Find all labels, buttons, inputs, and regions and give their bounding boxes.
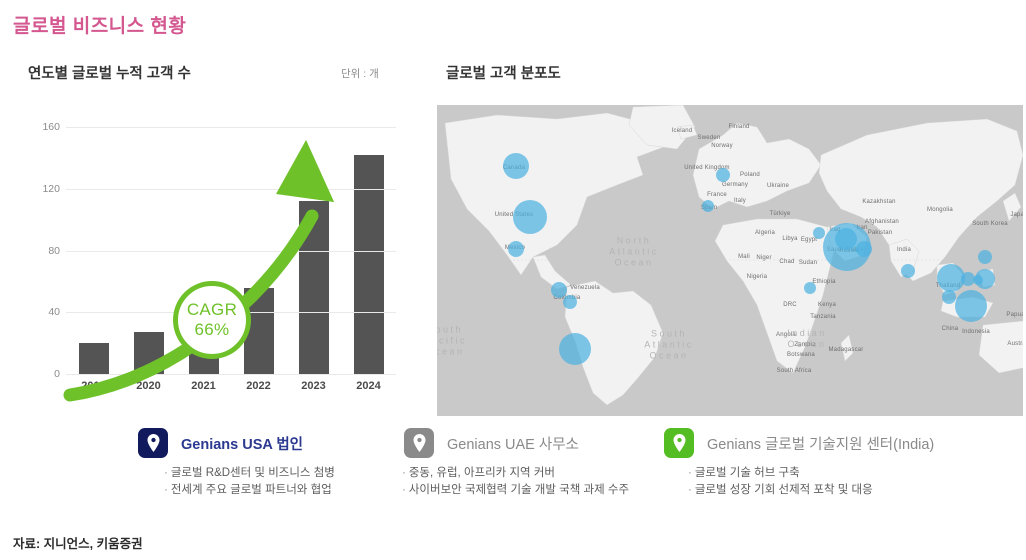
office-card-bullet: ·글로벌 성장 기회 선제적 포착 및 대응	[688, 482, 934, 499]
map-country-label: Australia	[1007, 341, 1023, 347]
map-country-label: Indonesia	[962, 329, 990, 335]
map-country-label: Kazakhstan	[862, 199, 895, 205]
map-bubble-uae[interactable]	[856, 241, 872, 257]
slide-root: 글로벌 비즈니스 현황 연도별 글로벌 누적 고객 수 단위 : 개 04080…	[0, 0, 1026, 560]
office-card-usa[interactable]: Genians USA 법인·글로벌 R&D센터 및 비즈니스 첨병·전세계 주…	[138, 428, 335, 499]
map-country-label: Mongolia	[927, 207, 953, 213]
chart-bar-column	[342, 112, 396, 374]
chart-x-tick: 2019	[67, 380, 121, 392]
map-bubble-egypt[interactable]	[813, 227, 825, 239]
map-country-label: Italy	[734, 198, 746, 204]
map-country-label: Sudan	[799, 260, 817, 266]
chart-gridline	[66, 374, 396, 375]
map-bubble-spain[interactable]	[702, 200, 714, 212]
chart-bar	[354, 155, 384, 374]
office-cards: Genians USA 법인·글로벌 R&D센터 및 비즈니스 첨병·전세계 주…	[0, 428, 1026, 523]
chart-bar	[134, 332, 164, 374]
map-ocean-label: NorthAtlanticOcean	[609, 236, 659, 269]
map-country-label: DRC	[783, 302, 797, 308]
map-bubble-taiwan[interactable]	[978, 250, 992, 264]
map-country-label: Venezuela	[570, 285, 600, 291]
chart-x-tick: 2023	[287, 380, 341, 392]
map-country-label: Iceland	[672, 128, 693, 134]
office-card-bullets: ·중동, 유럽, 아프리카 지역 커버·사이버보안 국제협력 기술 개발 국책 …	[402, 465, 629, 499]
map-ocean-label: SouthPacificOcean	[437, 325, 467, 358]
world-map-landmasses	[437, 105, 1023, 416]
map-country-label: Japan	[1010, 212, 1023, 218]
chart-bar-column	[67, 112, 121, 374]
bullet-dot-icon: ·	[164, 484, 168, 496]
chart-y-tick: 80	[20, 245, 60, 257]
office-card-title: Genians UAE 사무소	[447, 433, 579, 454]
map-country-label: Poland	[740, 172, 760, 178]
office-card-uae[interactable]: Genians UAE 사무소·중동, 유럽, 아프리카 지역 커버·사이버보안…	[404, 428, 629, 499]
map-country-label: India	[897, 247, 911, 253]
chart-bar-column	[122, 112, 176, 374]
source-note: 자료: 지니언스, 키움증권	[13, 533, 143, 552]
chart-x-tick: 2024	[342, 380, 396, 392]
office-card-header: Genians 글로벌 기술지원 센터(India)	[664, 428, 934, 458]
chart-bar-column	[232, 112, 286, 374]
map-country-label: Ethiopia	[812, 279, 835, 285]
map-pin-icon	[138, 428, 168, 458]
chart-bar	[244, 288, 274, 374]
chart-y-tick: 160	[20, 121, 60, 133]
map-bubble-argentina[interactable]	[559, 333, 591, 365]
map-bubble-kenya[interactable]	[804, 282, 816, 294]
chart-bar-column	[287, 112, 341, 374]
chart-title: 연도별 글로벌 누적 고객 수	[28, 62, 191, 83]
chart-gridline	[66, 189, 396, 190]
map-country-label: Türkiye	[769, 211, 790, 217]
bullet-dot-icon: ·	[402, 484, 406, 496]
chart-gridline	[66, 312, 396, 313]
map-country-label: Algeria	[755, 230, 775, 236]
map-pin-icon	[404, 428, 434, 458]
map-bubble-hongkong[interactable]	[973, 275, 983, 285]
map-country-label: South Africa	[777, 368, 812, 374]
office-card-header: Genians USA 법인	[138, 428, 335, 458]
chart-bar	[299, 201, 329, 374]
office-card-title: Genians 글로벌 기술지원 센터(India)	[707, 433, 934, 454]
map-country-label: Chad	[779, 259, 794, 265]
chart-gridline	[66, 251, 396, 252]
map-country-label: Nigeria	[747, 274, 767, 280]
map-country-label: Papua New Guinea	[1006, 312, 1023, 318]
chart-x-tick: 2020	[122, 380, 176, 392]
map-country-label: China	[942, 326, 959, 332]
map-country-label: South Korea	[972, 221, 1008, 227]
map-country-label: Finland	[728, 124, 749, 130]
map-bubble-india-south[interactable]	[901, 264, 915, 278]
bullet-dot-icon: ·	[402, 467, 406, 479]
office-card-india[interactable]: Genians 글로벌 기술지원 센터(India)·글로벌 기술 허브 구축·…	[664, 428, 934, 499]
chart-bars	[66, 112, 396, 374]
customer-map-panel: 글로벌 고객 분포도	[437, 52, 1026, 420]
office-card-bullet: ·글로벌 기술 허브 구축	[688, 465, 934, 482]
map-country-label: Botswana	[787, 352, 815, 358]
bullet-dot-icon: ·	[688, 467, 692, 479]
map-bubble-united-states[interactable]	[513, 200, 547, 234]
page-title: 글로벌 비즈니스 현황	[13, 11, 186, 38]
chart-x-tick: 2021	[177, 380, 231, 392]
office-card-bullet: ·전세계 주요 글로벌 파트너와 협업	[164, 482, 335, 499]
map-bubble-canada[interactable]	[503, 153, 529, 179]
map-country-label: Niger	[756, 255, 771, 261]
office-card-title: Genians USA 법인	[181, 433, 303, 454]
map-bubble-mexico[interactable]	[508, 241, 524, 257]
map-country-label: Libya	[782, 236, 797, 242]
office-card-bullets: ·글로벌 R&D센터 및 비즈니스 첨병·전세계 주요 글로벌 파트너와 협업	[164, 465, 335, 499]
map-title: 글로벌 고객 분포도	[446, 62, 561, 83]
map-bubble-saudi-arabia-2[interactable]	[835, 228, 857, 250]
map-ocean-label: SouthAtlanticOcean	[644, 329, 694, 362]
chart-bar	[189, 297, 219, 374]
map-bubble-united-kingdom[interactable]	[716, 168, 730, 182]
map-country-label: Madagascar	[828, 347, 863, 353]
map-pin-icon	[664, 428, 694, 458]
chart-bar-column	[177, 112, 231, 374]
map-bubble-peru[interactable]	[563, 295, 577, 309]
map-country-label: Tanzania	[810, 314, 836, 320]
chart-plot-area: 04080120160	[66, 112, 396, 374]
map-country-label: France	[707, 192, 727, 198]
map-country-label: Sweden	[698, 135, 721, 141]
bullet-dot-icon: ·	[688, 484, 692, 496]
chart-unit-label: 단위 : 개	[341, 66, 379, 81]
office-card-bullets: ·글로벌 기술 허브 구축·글로벌 성장 기회 선제적 포착 및 대응	[688, 465, 934, 499]
chart-x-tick: 2022	[232, 380, 286, 392]
office-card-bullet: ·중동, 유럽, 아프리카 지역 커버	[402, 465, 629, 482]
bullet-dot-icon: ·	[164, 467, 168, 479]
bar-chart: 04080120160 201920202021202220232024 CAG…	[0, 98, 430, 412]
office-card-bullet: ·사이버보안 국제협력 기술 개발 국책 과제 수주	[402, 482, 629, 499]
map-country-label: Ukraine	[767, 183, 789, 189]
map-bubble-indonesia[interactable]	[955, 290, 987, 322]
chart-y-tick: 40	[20, 306, 60, 318]
map-country-label: Kenya	[818, 302, 836, 308]
chart-gridline	[66, 127, 396, 128]
map-bubble-malaysia[interactable]	[942, 290, 956, 304]
office-card-bullet: ·글로벌 R&D센터 및 비즈니스 첨병	[164, 465, 335, 482]
world-map[interactable]: CanadaUnited StatesMexicoVenezuelaColomb…	[437, 105, 1023, 416]
chart-x-axis: 201920202021202220232024	[66, 380, 396, 392]
office-card-header: Genians UAE 사무소	[404, 428, 629, 458]
chart-y-tick: 0	[20, 368, 60, 380]
chart-y-tick: 120	[20, 183, 60, 195]
chart-bar	[79, 343, 109, 374]
map-country-label: Germany	[722, 182, 748, 188]
map-country-label: Norway	[711, 143, 733, 149]
map-country-label: Afghanistan	[865, 219, 899, 225]
customer-growth-panel: 연도별 글로벌 누적 고객 수 단위 : 개 04080120160 20192…	[0, 52, 430, 412]
map-ocean-label: IndianOcean	[787, 328, 827, 350]
map-country-label: Pakistan	[868, 230, 893, 236]
map-country-label: Mali	[738, 254, 750, 260]
